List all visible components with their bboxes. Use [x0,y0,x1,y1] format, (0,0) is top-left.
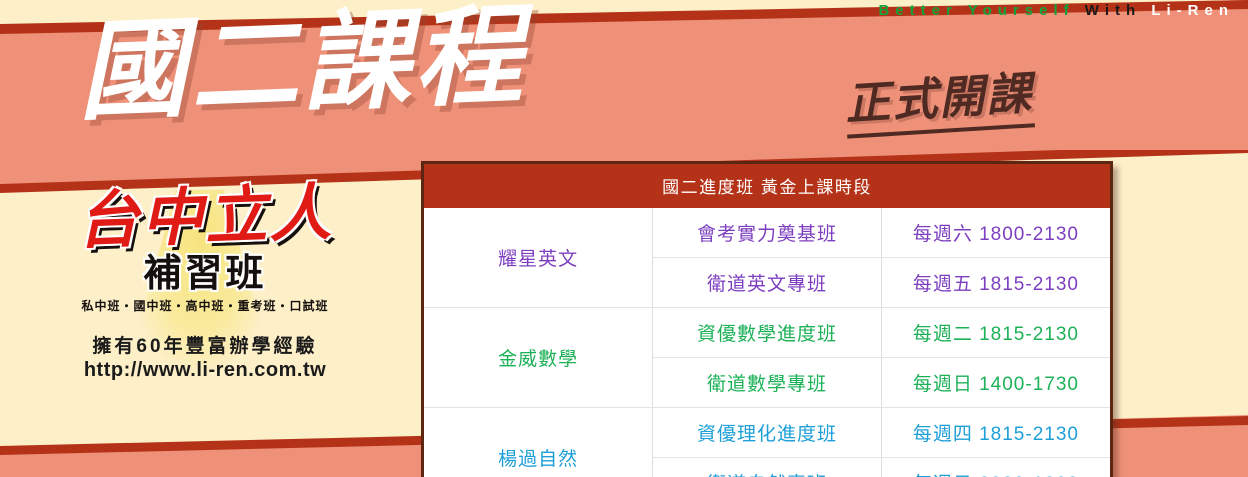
course-time-cell: 每週四 1815-2130 [881,408,1110,458]
course-name-cell: 衛道英文專班 [653,258,882,308]
schedule-table: 國二進度班 黃金上課時段 耀星英文會考實力奠基班每週六 1800-2130衛道英… [424,164,1110,477]
table-row: 楊過自然資優理化進度班每週四 1815-2130 [424,408,1110,458]
logo: 台中立人 補習班 私中班・國中班・高中班・重考班・口試班 擁有60年豐富辦學經驗… [30,186,380,382]
table-header-row: 國二進度班 黃金上課時段 [424,164,1110,208]
logo-name: 台中立人 [29,180,381,254]
table-row: 金威數學資優數學進度班每週二 1815-2130 [424,308,1110,358]
schedule-table-body: 耀星英文會考實力奠基班每週六 1800-2130衛道英文專班每週五 1815-2… [424,208,1110,477]
schedule-table-title: 國二進度班 黃金上課時段 [424,164,1110,208]
tagline-word-liren: Li-Ren [1151,2,1234,19]
course-time-cell: 每週日 1400-1730 [881,358,1110,408]
course-name-cell: 衛道數學專班 [653,358,882,408]
logo-class-list: 私中班・國中班・高中班・重考班・口試班 [30,297,380,314]
headline-subtitle: 正式開課 [843,56,1035,138]
tagline-word-better: Better [878,2,957,19]
logo-experience: 擁有60年豐富辦學經驗 [30,331,380,358]
logo-website-url: http://www.li-ren.com.tw [30,359,380,382]
course-time-cell: 每週日 0900-1230 [881,458,1110,477]
schedule-table-head: 國二進度班 黃金上課時段 [424,164,1110,208]
course-time-cell: 每週五 1815-2130 [881,258,1110,308]
tagline: Better Yourself With Li-Ren [878,2,1234,19]
schedule-table-container: 國二進度班 黃金上課時段 耀星英文會考實力奠基班每週六 1800-2130衛道英… [421,161,1113,477]
course-time-cell: 每週六 1800-2130 [881,208,1110,258]
subject-cell: 金威數學 [424,308,653,408]
table-row: 耀星英文會考實力奠基班每週六 1800-2130 [424,208,1110,258]
tagline-word-yourself: Yourself [968,2,1075,19]
subject-cell: 楊過自然 [424,408,653,477]
page-title: 國二課程 [76,0,528,130]
promotional-banner: Better Yourself With Li-Ren 國二課程 正式開課 台中… [0,0,1248,477]
logo-subname: 補習班 [30,254,380,292]
subject-cell: 耀星英文 [424,208,653,308]
course-name-cell: 會考實力奠基班 [653,208,882,258]
tagline-word-with: With [1085,2,1141,19]
course-name-cell: 衛道自然專班 [653,458,882,477]
course-name-cell: 資優理化進度班 [653,408,882,458]
course-time-cell: 每週二 1815-2130 [881,308,1110,358]
course-name-cell: 資優數學進度班 [653,308,882,358]
